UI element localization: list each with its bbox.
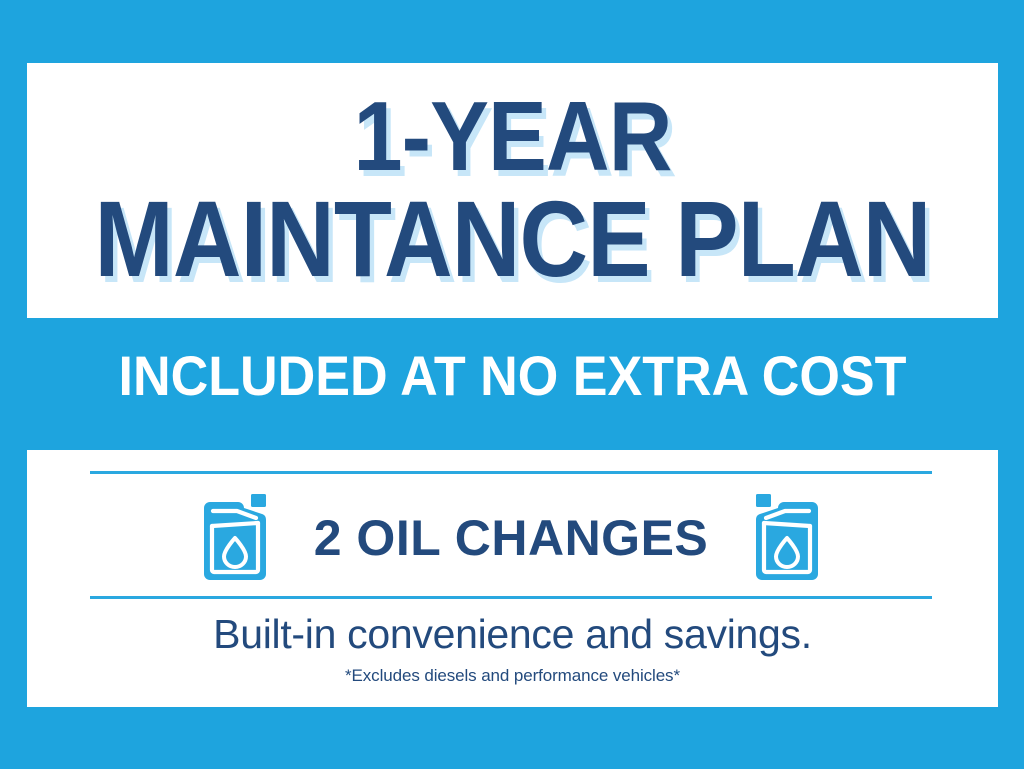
- divider-top: [90, 471, 932, 474]
- oil-can-icon: [194, 492, 272, 584]
- fineprint-disclaimer: *Excludes diesels and performance vehicl…: [27, 667, 998, 686]
- headline-line-2: MAINTANCE PLAN: [85, 185, 939, 293]
- oil-can-icon: [750, 492, 828, 584]
- tagline: Built-in convenience and savings.: [27, 612, 998, 657]
- feature-label: 2 OIL CHANGES: [314, 513, 709, 563]
- details-card: 2 OIL CHANGES B: [27, 450, 998, 707]
- promo-poster: 1-YEAR MAINTANCE PLAN INCLUDED AT NO EXT…: [0, 0, 1024, 769]
- headline-line-1: 1-YEAR: [76, 87, 950, 185]
- headline-card: 1-YEAR MAINTANCE PLAN: [27, 63, 998, 318]
- divider-bottom: [90, 596, 932, 599]
- subheading: INCLUDED AT NO EXTRA COST: [61, 345, 964, 407]
- headline-stack: 1-YEAR MAINTANCE PLAN: [27, 63, 998, 318]
- feature-row: 2 OIL CHANGES: [90, 486, 932, 590]
